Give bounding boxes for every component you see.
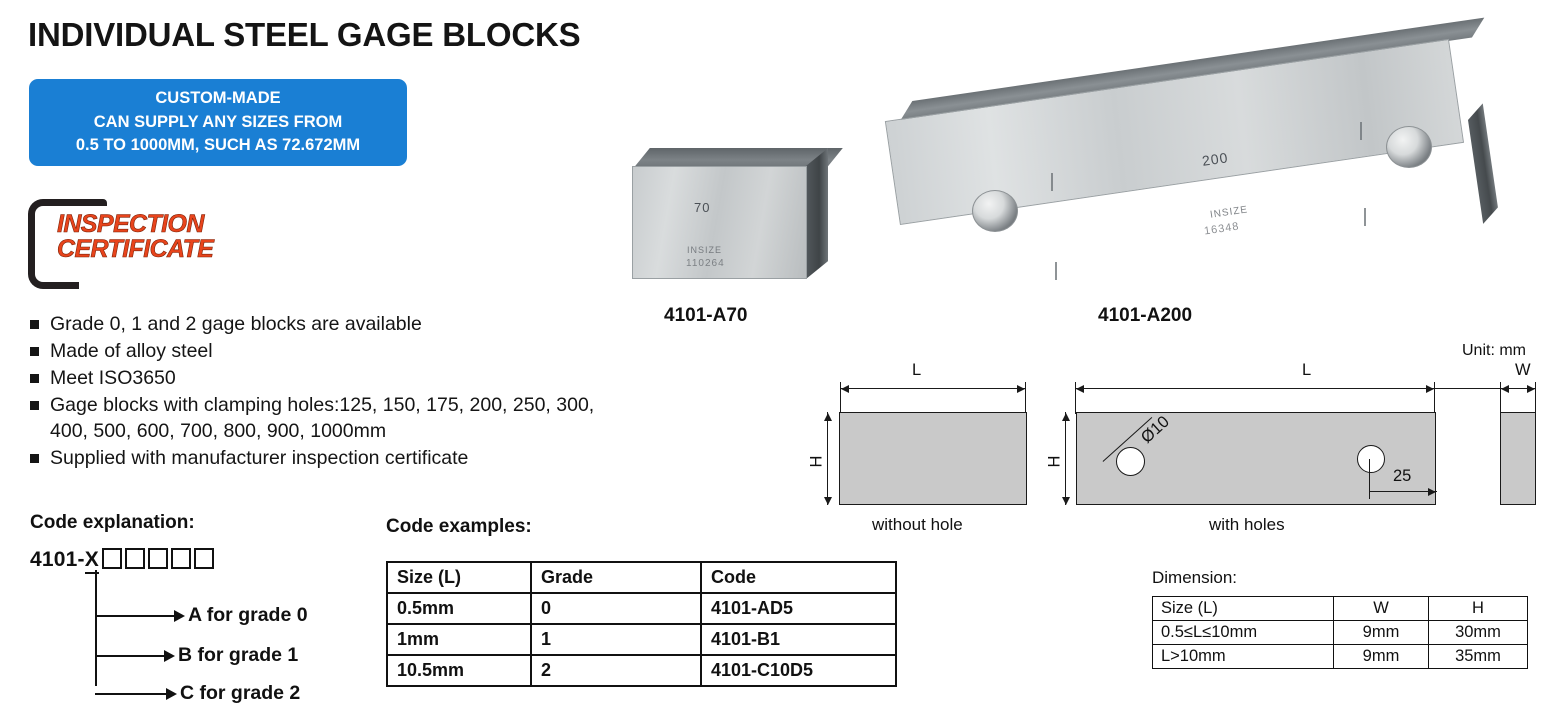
branch-grade-2: C for grade 2 — [95, 684, 300, 704]
cell-size: L>10mm — [1153, 645, 1334, 669]
page-title: INDIVIDUAL STEEL GAGE BLOCKS — [28, 16, 728, 54]
arrow-right-icon — [174, 610, 185, 622]
arrow-right-icon — [1017, 385, 1025, 393]
square-bullet-icon — [30, 374, 39, 383]
block-tick-mark — [1364, 208, 1366, 226]
block-outline-side-view — [1500, 412, 1536, 505]
engineering-drawings: L H without hole L H Ø10 — [800, 355, 1554, 545]
length-label: L — [912, 361, 921, 380]
feature-text: Made of alloy steel — [50, 339, 630, 365]
clamping-hole-left — [972, 190, 1018, 232]
block-brand-engraving: INSIZE — [1209, 204, 1248, 220]
block-side-face — [806, 148, 828, 279]
square-bullet-icon — [30, 454, 39, 463]
branch-label: B for grade 1 — [178, 646, 298, 666]
cell-size: 0.5≤L≤10mm — [1153, 621, 1334, 645]
dimension-heading: Dimension: — [1152, 568, 1237, 588]
branch-line — [95, 655, 165, 657]
length-dimension-line — [1075, 388, 1535, 389]
block-tick-mark — [1055, 262, 1057, 280]
hole-right — [1357, 445, 1385, 473]
arrow-right-icon — [1527, 385, 1535, 393]
code-placeholder-boxes — [102, 548, 214, 569]
drawing-caption-with-holes: with holes — [1209, 515, 1285, 535]
block-serial-engraving: 110264 — [686, 258, 725, 269]
feature-text: Gage blocks with clamping holes:125, 150… — [50, 393, 630, 445]
feature-text: Supplied with manufacturer inspection ce… — [50, 446, 630, 472]
length-dimension-line — [840, 388, 1026, 389]
column-header-size: Size (L) — [1153, 597, 1334, 621]
feature-list: Grade 0, 1 and 2 gage blocks are availab… — [30, 312, 630, 473]
branch-grade-1: B for grade 1 — [95, 646, 298, 666]
code-pattern: 4101-X — [30, 548, 214, 570]
product-photo-4101-a200: 200 INSIZE 16348 — [892, 90, 1492, 295]
block-tick-mark — [1051, 173, 1053, 191]
product-photo-4101-a70: 70 INSIZE 110264 — [632, 148, 840, 283]
column-header-width: W — [1334, 597, 1429, 621]
table-row: 0.5≤L≤10mm 9mm 30mm — [1153, 621, 1528, 645]
inspection-logo-line-2: CERTIFICATE — [57, 237, 213, 262]
cell-size: 10.5mm — [387, 655, 531, 686]
length-label: L — [1302, 361, 1311, 380]
code-placeholder-box — [102, 548, 122, 569]
height-dimension-line — [1065, 412, 1066, 505]
width-label: W — [1515, 361, 1531, 380]
height-label: H — [807, 456, 826, 468]
cell-code: 4101-B1 — [701, 624, 896, 655]
code-placeholder-box — [194, 548, 214, 569]
hole-left — [1116, 447, 1145, 476]
arrow-right-icon — [1426, 385, 1434, 393]
drawing-caption-without-hole: without hole — [872, 515, 963, 535]
edge-distance-label: 25 — [1393, 467, 1411, 486]
branch-grade-0: A for grade 0 — [95, 606, 308, 626]
list-item: Grade 0, 1 and 2 gage blocks are availab… — [30, 312, 630, 338]
arrow-up-icon — [824, 413, 832, 421]
table-row: 0.5mm 0 4101-AD5 — [387, 593, 896, 624]
product-caption-large: 4101-A200 — [1098, 305, 1192, 327]
square-bullet-icon — [30, 347, 39, 356]
branch-label: C for grade 2 — [180, 684, 300, 704]
list-item: Gage blocks with clamping holes:125, 150… — [30, 393, 630, 445]
block-outline-without-hole — [839, 412, 1027, 505]
arrow-right-icon — [164, 650, 175, 662]
arrow-down-icon — [1062, 497, 1070, 505]
cell-height: 35mm — [1429, 645, 1528, 669]
cell-grade: 1 — [531, 624, 701, 655]
custom-made-line-2: CAN SUPPLY ANY SIZES FROM — [94, 111, 342, 134]
column-header-height: H — [1429, 597, 1528, 621]
table-row: 1mm 1 4101-B1 — [387, 624, 896, 655]
column-header-grade: Grade — [531, 562, 701, 593]
feature-text: Meet ISO3650 — [50, 366, 630, 392]
code-pattern-text: 4101-X — [30, 549, 99, 570]
branch-line — [95, 615, 175, 617]
table-row: 10.5mm 2 4101-C10D5 — [387, 655, 896, 686]
cell-code: 4101-C10D5 — [701, 655, 896, 686]
list-item: Made of alloy steel — [30, 339, 630, 365]
cell-code: 4101-AD5 — [701, 593, 896, 624]
inspection-certificate-wordmark: INSPECTION CERTIFICATE — [57, 212, 213, 261]
custom-made-line-1: CUSTOM-MADE — [155, 87, 280, 110]
code-branch-diagram: A for grade 0 B for grade 1 C for grade … — [95, 570, 365, 692]
list-item: Meet ISO3650 — [30, 366, 630, 392]
code-placeholder-box — [125, 548, 145, 569]
length-extension-line — [1434, 382, 1435, 414]
width-extension-line — [1535, 382, 1536, 414]
table-header-row: Size (L) W H — [1153, 597, 1528, 621]
branch-label: A for grade 0 — [188, 606, 308, 626]
arrow-down-icon — [824, 497, 832, 505]
table-header-row: Size (L) Grade Code — [387, 562, 896, 593]
code-placeholder-box — [171, 548, 191, 569]
arrow-right-icon — [166, 688, 177, 700]
square-bullet-icon — [30, 320, 39, 329]
cell-grade: 0 — [531, 593, 701, 624]
cell-width: 9mm — [1334, 621, 1429, 645]
branch-trunk-line — [95, 570, 97, 686]
clamping-hole-right — [1386, 126, 1432, 168]
column-header-size: Size (L) — [387, 562, 531, 593]
dimension-table: Size (L) W H 0.5≤L≤10mm 9mm 30mm L>10mm … — [1152, 596, 1528, 669]
height-dimension-line — [827, 412, 828, 505]
arrow-left-icon — [1076, 385, 1084, 393]
cell-width: 9mm — [1334, 645, 1429, 669]
inspection-certificate-logo: INSPECTION CERTIFICATE — [27, 196, 257, 278]
arrow-left-icon — [1501, 385, 1509, 393]
code-explanation-heading: Code explanation: — [30, 512, 195, 534]
length-extension-line — [1025, 382, 1026, 414]
column-header-code: Code — [701, 562, 896, 593]
code-examples-heading: Code examples: — [386, 516, 532, 538]
height-label: H — [1045, 456, 1064, 468]
cell-grade: 2 — [531, 655, 701, 686]
custom-made-line-3: 0.5 TO 1000MM, SUCH AS 72.672MM — [76, 134, 360, 157]
square-bullet-icon — [30, 401, 39, 410]
feature-text: Grade 0, 1 and 2 gage blocks are availab… — [50, 312, 630, 338]
edge-dimension-line — [1369, 491, 1437, 492]
custom-made-badge: CUSTOM-MADE CAN SUPPLY ANY SIZES FROM 0.… — [29, 79, 407, 166]
cell-size: 0.5mm — [387, 593, 531, 624]
arrow-left-icon — [841, 385, 849, 393]
branch-line — [95, 693, 167, 695]
product-caption-small: 4101-A70 — [664, 305, 747, 327]
list-item: Supplied with manufacturer inspection ce… — [30, 446, 630, 472]
code-prefix: 4101- — [30, 548, 85, 571]
block-side-face — [1468, 103, 1498, 223]
arrow-up-icon — [1062, 413, 1070, 421]
table-row: L>10mm 9mm 35mm — [1153, 645, 1528, 669]
code-examples-table: Size (L) Grade Code 0.5mm 0 4101-AD5 1mm… — [386, 561, 897, 687]
block-size-engraving: 70 — [694, 200, 710, 215]
cell-size: 1mm — [387, 624, 531, 655]
inspection-logo-line-1: INSPECTION — [57, 212, 213, 237]
block-brand-engraving: INSIZE — [687, 245, 722, 255]
cell-height: 30mm — [1429, 621, 1528, 645]
edge-extension-line — [1369, 459, 1370, 499]
code-placeholder-box — [148, 548, 168, 569]
arrow-right-icon — [1428, 488, 1436, 496]
block-serial-engraving: 16348 — [1203, 220, 1240, 237]
block-tick-mark — [1360, 122, 1362, 140]
